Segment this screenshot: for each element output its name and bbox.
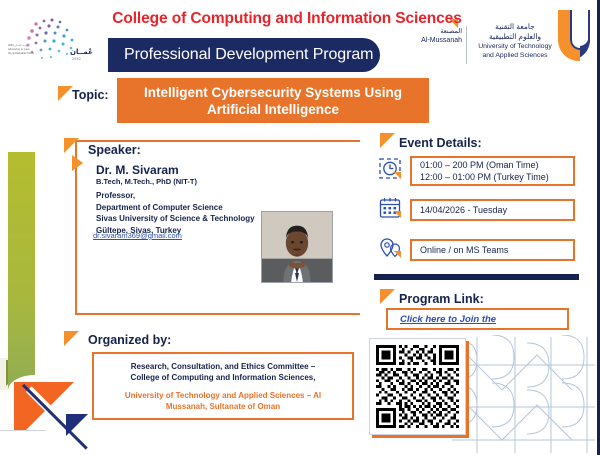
poster-canvas: عُمــان 2040 رؤيــة عُمــان 2040 Advanci…: [0, 0, 600, 455]
event-details-bullet-icon: [380, 133, 395, 148]
topic-banner: Intelligent Cybersecurity Systems Using …: [117, 78, 429, 123]
clock-icon: [379, 158, 405, 182]
college-title: College of Computing and Information Sci…: [92, 10, 482, 28]
navy-triangle-decoration: [66, 414, 88, 436]
organized-by-bullet-icon: [64, 331, 79, 346]
speaker-arrow-icon: [72, 155, 83, 171]
program-link-heading: Program Link:: [399, 292, 484, 306]
event-details-heading: Event Details:: [399, 136, 482, 150]
organizer-line-2: College of Computing and Information Sci…: [131, 372, 316, 383]
organizer-line-3: University of Technology and Applied Sci…: [125, 390, 321, 401]
utas-arabic-line1: جامعة التقنية: [474, 22, 556, 32]
event-time-line1: 01:00 – 200 PM (Oman Time): [420, 159, 549, 172]
organized-by-heading: Organized by:: [88, 333, 171, 347]
topic-bullet-icon: [58, 86, 73, 101]
speaker-degrees: B.Tech, M.Tech., PhD (NIT-T): [96, 177, 197, 186]
svg-text:Advancing to meet: Advancing to meet: [8, 47, 30, 51]
oman-vision-logo: عُمــان 2040 رؤيــة عُمــان 2040 Advanci…: [6, 12, 102, 68]
event-time-box: 01:00 – 200 PM (Oman Time) 12:00 – 01:00…: [410, 156, 575, 186]
organized-by-box: Research, Consultation, and Ethics Commi…: [92, 352, 354, 420]
calendar-icon: [379, 197, 405, 221]
utas-logo-text: جامعة التقنية والعلوم التطبيقية Universi…: [474, 22, 556, 66]
event-date-box: 14/04/2026 - Tuesday: [410, 199, 575, 221]
event-time-line2: 12:00 – 01:00 PM (Turkey Time): [420, 171, 549, 184]
navy-divider-bar: [374, 274, 579, 280]
geometric-pattern-decoration: [447, 335, 597, 455]
svg-text:عُمــان: عُمــان: [70, 47, 93, 56]
utas-english-line2: and Applied Sciences: [474, 51, 556, 60]
speaker-title: Professor,: [96, 190, 255, 202]
logo-divider: [466, 26, 467, 64]
speaker-affiliation: Professor, Department of Computer Scienc…: [96, 190, 255, 236]
qr-code[interactable]: [369, 338, 466, 435]
svg-text:2040: 2040: [72, 57, 81, 61]
al-mussanah-logo: المصنعة Al-Mussanah: [400, 28, 462, 64]
qr-code-image: [376, 345, 459, 428]
green-stripe-decoration: [8, 152, 35, 420]
speaker-university: Sivas University of Science & Technology: [96, 213, 255, 225]
speaker-name: Dr. M. Sivaram: [96, 163, 179, 177]
svg-text:رؤيــة عُمــان 2040: رؤيــة عُمــان 2040: [8, 43, 29, 47]
location-pin-icon: [379, 237, 405, 261]
bottom-left-corner-block: [0, 430, 46, 455]
topic-line-2: Artificial Intelligence: [207, 101, 339, 118]
topic-label: Topic:: [72, 88, 109, 102]
speaker-photo: [261, 211, 333, 283]
svg-text:the Sustainable Future: the Sustainable Future: [8, 51, 35, 55]
organizer-line-1: Research, Consultation, and Ethics Commi…: [131, 361, 315, 372]
join-link[interactable]: Click here to Join the: [400, 314, 496, 325]
almussanah-arabic: المصنعة: [400, 28, 462, 36]
speaker-bullet-icon: [64, 138, 79, 153]
event-date-value: 14/04/2026 - Tuesday: [420, 205, 507, 215]
utas-emblem-icon: [556, 8, 592, 62]
program-link-box[interactable]: Click here to Join the: [386, 308, 569, 330]
utas-english-line1: University of Technology: [474, 42, 556, 51]
organizer-line-4: Mussanah, Sultanate of Oman: [166, 401, 280, 412]
program-pill: Professional Development Program: [108, 38, 380, 72]
event-venue-box: Online / on MS Teams: [410, 239, 575, 261]
almussanah-english: Al-Mussanah: [400, 36, 462, 45]
speaker-department: Department of Computer Science: [96, 202, 255, 214]
topic-line-1: Intelligent Cybersecurity Systems Using: [144, 84, 402, 101]
speaker-email-link[interactable]: dr.sivaram369@gmail.com: [93, 231, 182, 240]
speaker-heading: Speaker:: [88, 143, 141, 157]
program-link-bullet-icon: [380, 289, 395, 304]
utas-arabic-line2: والعلوم التطبيقية: [474, 32, 556, 42]
event-venue-value: Online / on MS Teams: [420, 245, 508, 255]
